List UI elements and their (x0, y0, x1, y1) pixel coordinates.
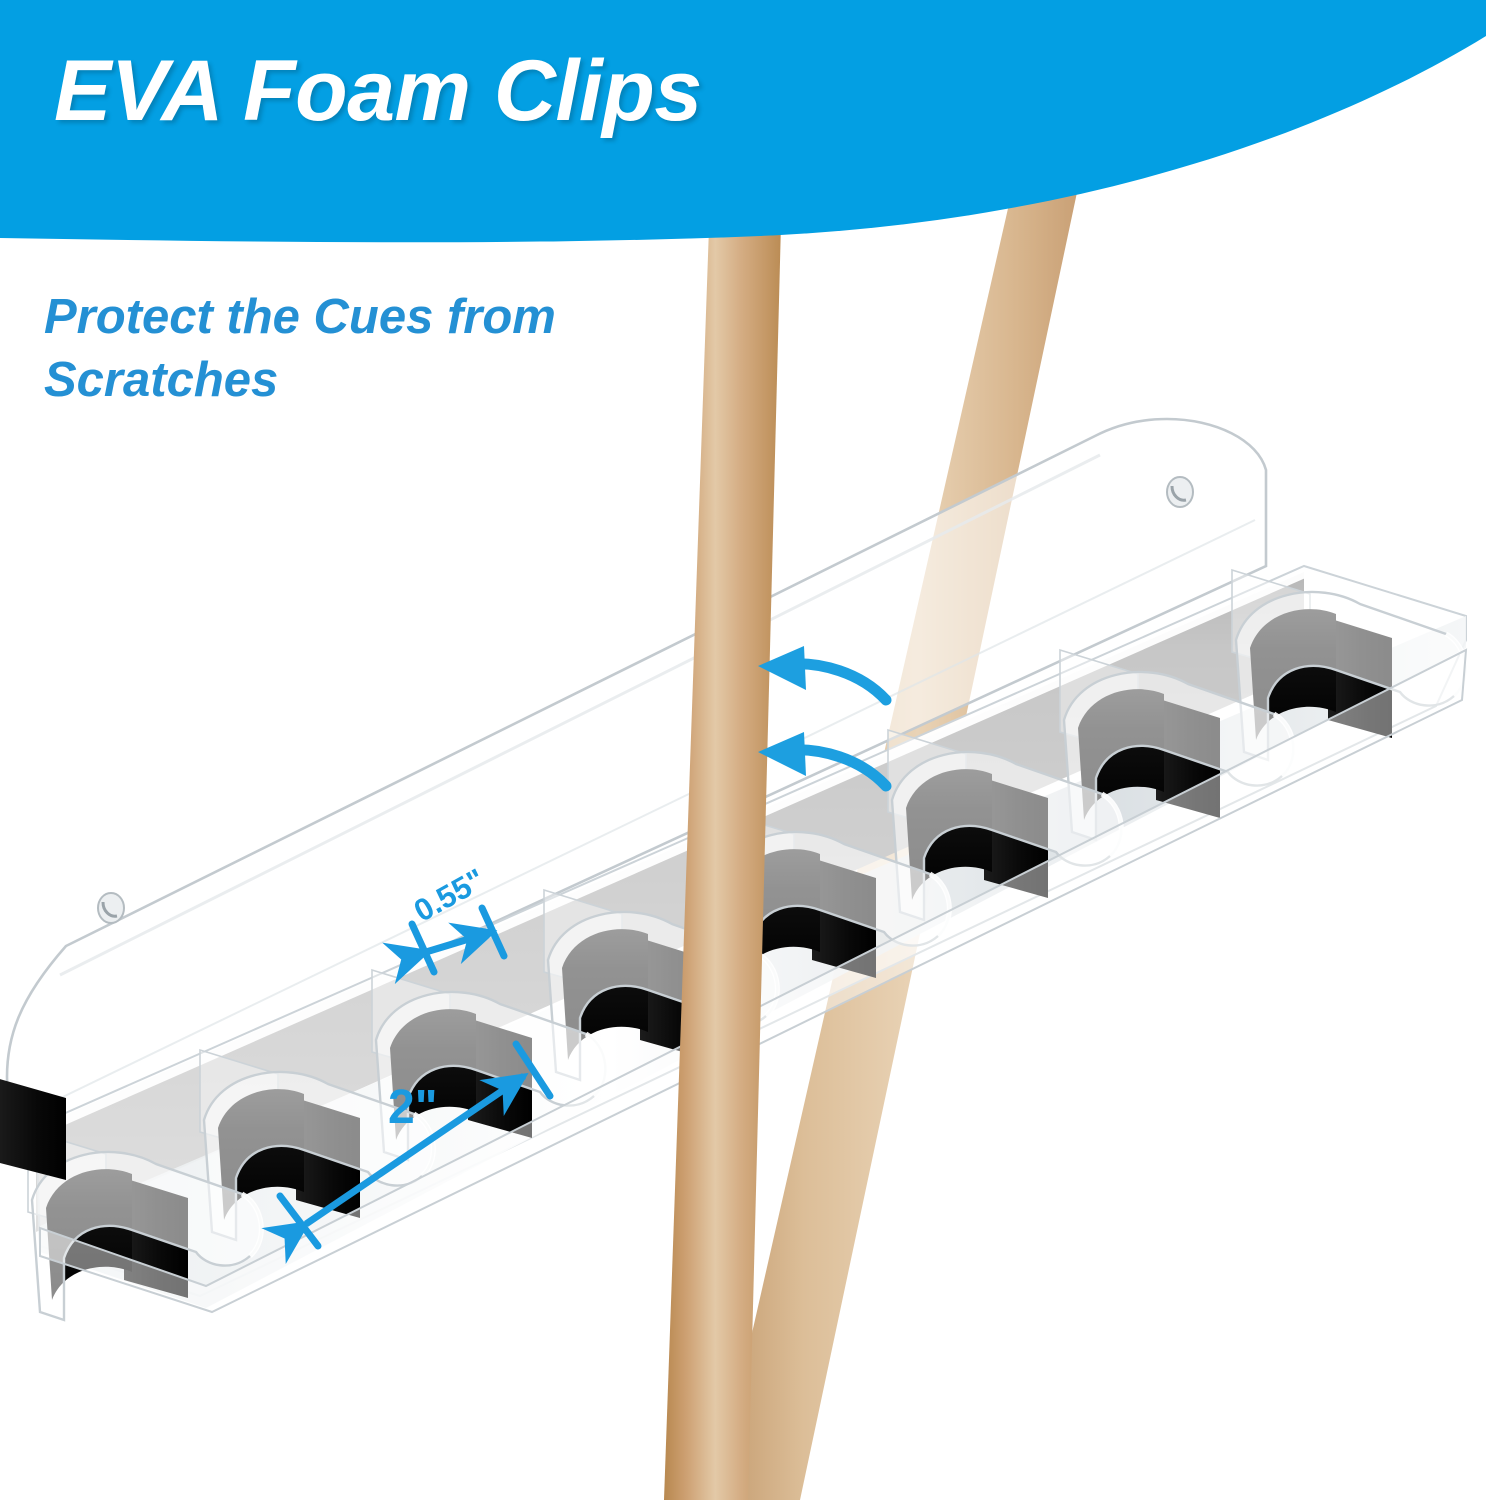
subtitle: Protect the Cues from Scratches (44, 286, 644, 411)
mounting-hole-right (1167, 477, 1193, 507)
mounting-hole-left (98, 893, 124, 923)
subtitle-line-2: Scratches (44, 353, 278, 407)
product-illustration (0, 0, 1486, 1500)
product-feature-image: 0.55" 2" EVA Foam Clips Protect the Cues… (0, 0, 1486, 1500)
subtitle-line-1: Protect the Cues from (44, 290, 556, 344)
page-title: EVA Foam Clips (54, 48, 702, 134)
